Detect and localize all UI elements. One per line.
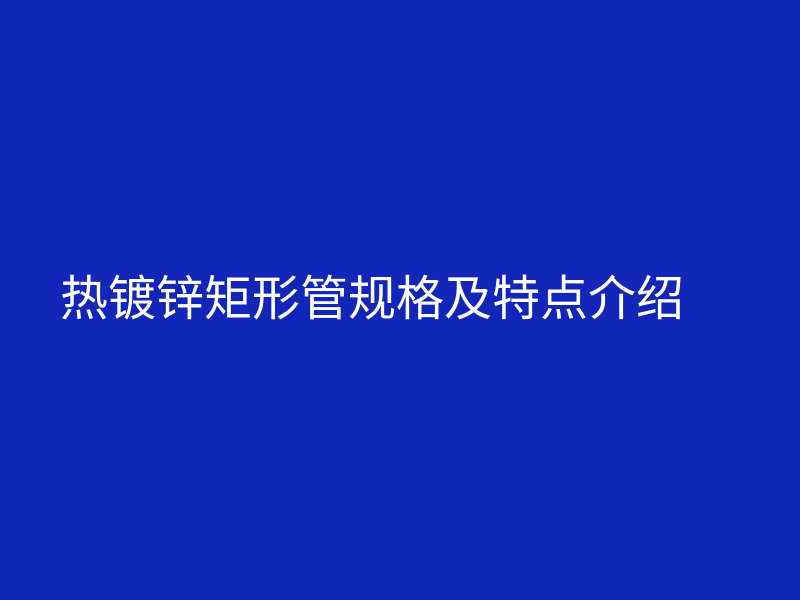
title-block: 热镀锌矩形管规格及特点介绍 bbox=[0, 0, 800, 600]
slide-canvas: 热镀锌矩形管规格及特点介绍 bbox=[0, 0, 800, 600]
page-title: 热镀锌矩形管规格及特点介绍 bbox=[60, 271, 684, 328]
